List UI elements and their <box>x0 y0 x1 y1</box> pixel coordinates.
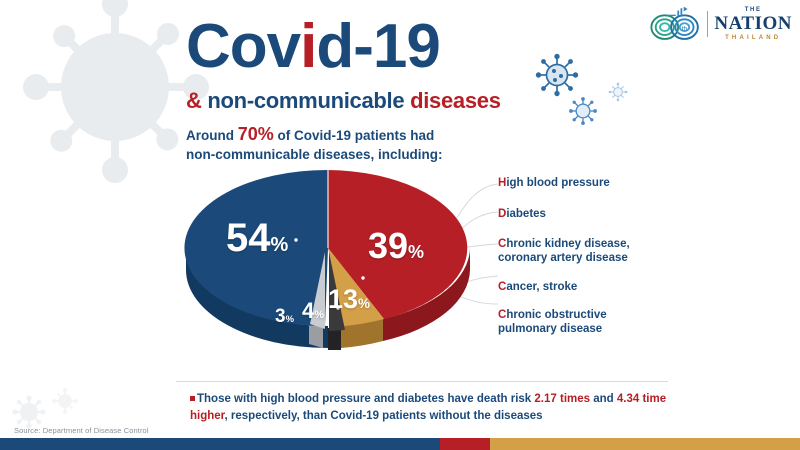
infographic-canvas: th THE NATION THAILAND Covid-19 & non-co… <box>0 0 800 450</box>
subtitle-mid: non-communicable <box>202 88 411 113</box>
footnote-post: , respectively, than Covid-19 patients w… <box>225 410 543 422</box>
legend-text-0: igh blood pressure <box>506 177 610 189</box>
pie-value-label-ckd: 13% <box>328 286 370 313</box>
pie-value-label-cancer: 4% <box>302 300 324 322</box>
legend-item-copd[interactable]: Chronic obstructive pulmonary disease <box>498 308 607 337</box>
footnote-pre: Those with high blood pressure and diabe… <box>197 393 534 405</box>
legend-text-1: iabetes <box>506 208 546 220</box>
bottom-bar-gold <box>490 438 800 450</box>
lede-paragraph: Around 70% of Covid-19 patients had non-… <box>186 122 443 165</box>
legend-text-4b: pulmonary disease <box>498 323 602 335</box>
lede-line1-pre: Around <box>186 128 238 143</box>
logo-divider <box>707 11 708 37</box>
brand-logo: th THE NATION THAILAND <box>649 4 792 44</box>
legend-item-cancer-stroke[interactable]: Cancer, stroke <box>498 280 577 294</box>
pie-value-copd: 3 <box>275 306 286 327</box>
footnote-mid: and <box>590 393 617 405</box>
pie-value-label-hbp: 54% <box>226 218 288 258</box>
lede-stat: 70% <box>238 124 274 144</box>
subtitle-ampersand: & <box>186 88 202 113</box>
pie-value-label-diabetes: 39% <box>368 228 424 264</box>
bottom-bar-blue <box>0 438 440 450</box>
pie-value-label-copd: 3% <box>275 307 294 326</box>
footnote: Those with high blood pressure and diabe… <box>190 391 670 424</box>
page-subtitle: & non-communicable diseases <box>186 88 501 114</box>
legend-item-chronic-kidney-disease[interactable]: Chronic kidney disease, coronary artery … <box>498 237 630 266</box>
legend-text-3: ancer, stroke <box>506 281 577 293</box>
brand-country: THAILAND <box>725 35 781 41</box>
pie-slice-side-cancer <box>328 328 341 350</box>
bottom-color-bar <box>0 438 800 450</box>
brand-name: NATION <box>714 14 792 33</box>
pie-value-hbp: 54 <box>226 216 271 260</box>
virus-icon-blue-large <box>534 52 580 98</box>
virus-watermark-small-2 <box>52 388 78 414</box>
svg-text:th: th <box>682 25 688 32</box>
lede-line1-post: of Covid-19 patients had <box>274 128 435 143</box>
virus-icon-blue-medium <box>568 96 598 126</box>
legend-text-2b: coronary artery disease <box>498 252 628 264</box>
legend-item-diabetes[interactable]: Diabetes <box>498 207 546 221</box>
title-accent-letter: i <box>300 12 316 81</box>
legend-item-high-blood-pressure[interactable]: High blood pressure <box>498 176 610 190</box>
subtitle-accent: diseases <box>410 88 501 113</box>
title-part-1: Cov <box>186 12 300 81</box>
footnote-stat-1: 2.17 times <box>534 393 590 405</box>
pie-chart-svg <box>178 160 478 375</box>
pie-value-diabetes: 39 <box>368 225 408 266</box>
footer-divider <box>176 381 668 382</box>
pie-chart: 54% 39% 13% 4% 3% <box>178 160 478 375</box>
page-title: Covid-19 <box>186 16 440 78</box>
pie-value-cancer: 4 <box>302 298 314 323</box>
title-part-2: d-19 <box>316 12 439 81</box>
bottom-bar-red <box>440 438 490 450</box>
source-credit: Source: Department of Disease Control <box>14 426 149 435</box>
fiftieth-anniversary-icon: th <box>649 4 701 44</box>
bullet-square-icon <box>190 396 195 401</box>
virus-watermark-large <box>20 0 210 185</box>
virus-watermark-small-1 <box>12 395 46 429</box>
legend-text-4: hronic obstructive <box>506 309 606 321</box>
virus-icon-blue-small <box>608 82 628 102</box>
legend-text-2: hronic kidney disease, <box>506 238 629 250</box>
pie-value-ckd: 13 <box>328 284 358 314</box>
